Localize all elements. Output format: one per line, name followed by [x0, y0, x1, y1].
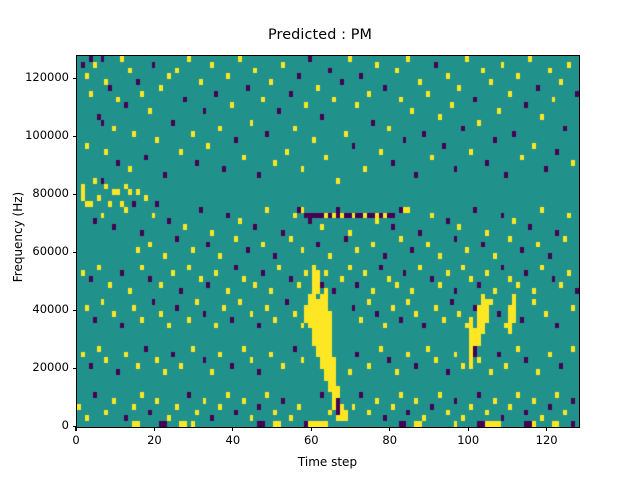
x-tick-mark — [232, 427, 233, 431]
heatmap-plot-area — [76, 55, 580, 428]
y-tick-mark — [73, 136, 77, 137]
x-tick-label: 80 — [368, 433, 412, 447]
y-axis-label: Frequency (Hz) — [11, 127, 25, 347]
chart-title: Predicted : PM — [0, 27, 640, 43]
y-tick-mark — [73, 310, 77, 311]
x-tick-label: 120 — [525, 433, 569, 447]
x-tick-mark — [311, 427, 312, 431]
y-tick-label: 120000 — [25, 70, 69, 84]
y-tick-label: 60000 — [32, 244, 69, 258]
x-tick-mark — [75, 427, 76, 431]
heatmap-canvas — [77, 56, 579, 427]
y-tick-mark — [73, 194, 77, 195]
x-tick-label: 100 — [446, 433, 490, 447]
x-tick-label: 40 — [211, 433, 255, 447]
x-tick-mark — [468, 427, 469, 431]
y-axis: Frequency (Hz) 0200004000060000800001000… — [0, 55, 76, 427]
y-tick-label: 80000 — [32, 186, 69, 200]
y-tick-label: 20000 — [32, 360, 69, 374]
matplotlib-figure: Predicted : PM Frequency (Hz) 0200004000… — [0, 0, 640, 480]
y-tick-mark — [73, 252, 77, 253]
x-axis-label: Time step — [76, 455, 579, 469]
y-tick-label: 100000 — [25, 128, 69, 142]
y-tick-label: 40000 — [32, 302, 69, 316]
x-tick-mark — [154, 427, 155, 431]
y-tick-mark — [73, 368, 77, 369]
x-axis: Time step 020406080100120 — [76, 427, 579, 480]
x-tick-mark — [389, 427, 390, 431]
x-tick-label: 60 — [289, 433, 333, 447]
y-tick-mark — [73, 78, 77, 79]
x-tick-label: 0 — [54, 433, 98, 447]
x-tick-label: 20 — [132, 433, 176, 447]
y-tick-label: 0 — [62, 418, 69, 432]
x-tick-mark — [546, 427, 547, 431]
